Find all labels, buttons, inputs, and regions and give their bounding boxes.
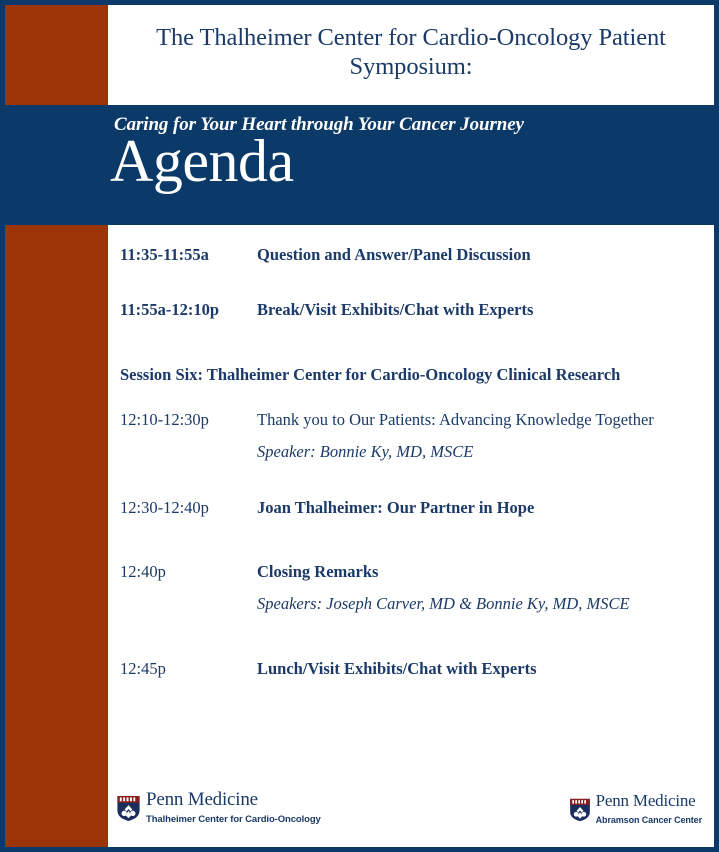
agenda-title: Joan Thalheimer: Our Partner in Hope [257, 497, 696, 518]
agenda-title: Lunch/Visit Exhibits/Chat with Experts [257, 658, 696, 679]
agenda-time: 12:45p [120, 658, 257, 679]
agenda-speaker: Speakers: Joseph Carver, MD & Bonnie Ky,… [257, 593, 696, 614]
agenda-time: 11:35-11:55a [120, 244, 257, 265]
agenda-row: 11:55a-12:10p Break/Visit Exhibits/Chat … [120, 299, 696, 320]
agenda-title: Question and Answer/Panel Discussion [257, 244, 696, 265]
logo-subtitle: Thalheimer Center for Cardio-Oncology [146, 814, 321, 825]
page-title: The Thalheimer Center for Cardio-Oncolog… [122, 24, 700, 82]
logo-thalheimer-center: Penn Medicine Thalheimer Center for Card… [116, 790, 321, 827]
agenda-detail: Closing Remarks Speakers: Joseph Carver,… [257, 561, 696, 615]
agenda-heading: Agenda [108, 130, 714, 193]
agenda-detail: Break/Visit Exhibits/Chat with Experts [257, 299, 696, 320]
agenda-detail: Question and Answer/Panel Discussion [257, 244, 696, 265]
penn-shield-icon [569, 798, 591, 822]
agenda-row: 11:35-11:55a Question and Answer/Panel D… [120, 244, 696, 265]
agenda-time: 12:10-12:30p [120, 409, 257, 430]
penn-shield-icon [116, 795, 141, 822]
agenda-list-bottom: 12:10-12:30p Thank you to Our Patients: … [120, 409, 696, 680]
agenda-time: 12:40p [120, 561, 257, 582]
agenda-speaker: Speaker: Bonnie Ky, MD, MSCE [257, 441, 696, 462]
logo-text: Penn Medicine Abramson Cancer Center [596, 792, 702, 828]
logo-brand: Penn Medicine [596, 791, 696, 810]
banner: Caring for Your Heart through Your Cance… [5, 105, 714, 225]
agenda-time: 11:55a-12:10p [120, 299, 257, 320]
agenda-row: 12:45p Lunch/Visit Exhibits/Chat with Ex… [120, 658, 696, 679]
agenda-row: 12:40p Closing Remarks Speakers: Joseph … [120, 561, 696, 615]
logo-brand: Penn Medicine [146, 789, 258, 810]
agenda-detail: Thank you to Our Patients: Advancing Kno… [257, 409, 696, 463]
agenda-title: Thank you to Our Patients: Advancing Kno… [257, 409, 696, 430]
logo-text: Penn Medicine Thalheimer Center for Card… [146, 790, 321, 827]
logo-abramson-cancer-center: Penn Medicine Abramson Cancer Center [569, 792, 702, 828]
agenda-detail: Joan Thalheimer: Our Partner in Hope [257, 497, 696, 518]
agenda-body: 11:35-11:55a Question and Answer/Panel D… [108, 225, 714, 847]
logo-subtitle: Abramson Cancer Center [596, 815, 702, 825]
footer: Penn Medicine Thalheimer Center for Card… [108, 785, 714, 847]
agenda-title: Closing Remarks [257, 561, 696, 582]
session-heading: Session Six: Thalheimer Center for Cardi… [120, 364, 680, 386]
agenda-row: 12:30-12:40p Joan Thalheimer: Our Partne… [120, 497, 696, 518]
agenda-flyer: The Thalheimer Center for Cardio-Oncolog… [0, 0, 719, 852]
agenda-title: Break/Visit Exhibits/Chat with Experts [257, 299, 696, 320]
agenda-detail: Lunch/Visit Exhibits/Chat with Experts [257, 658, 696, 679]
agenda-time: 12:30-12:40p [120, 497, 257, 518]
title-header: The Thalheimer Center for Cardio-Oncolog… [108, 5, 714, 105]
agenda-row: 12:10-12:30p Thank you to Our Patients: … [120, 409, 696, 463]
agenda-list-top: 11:35-11:55a Question and Answer/Panel D… [120, 244, 696, 321]
